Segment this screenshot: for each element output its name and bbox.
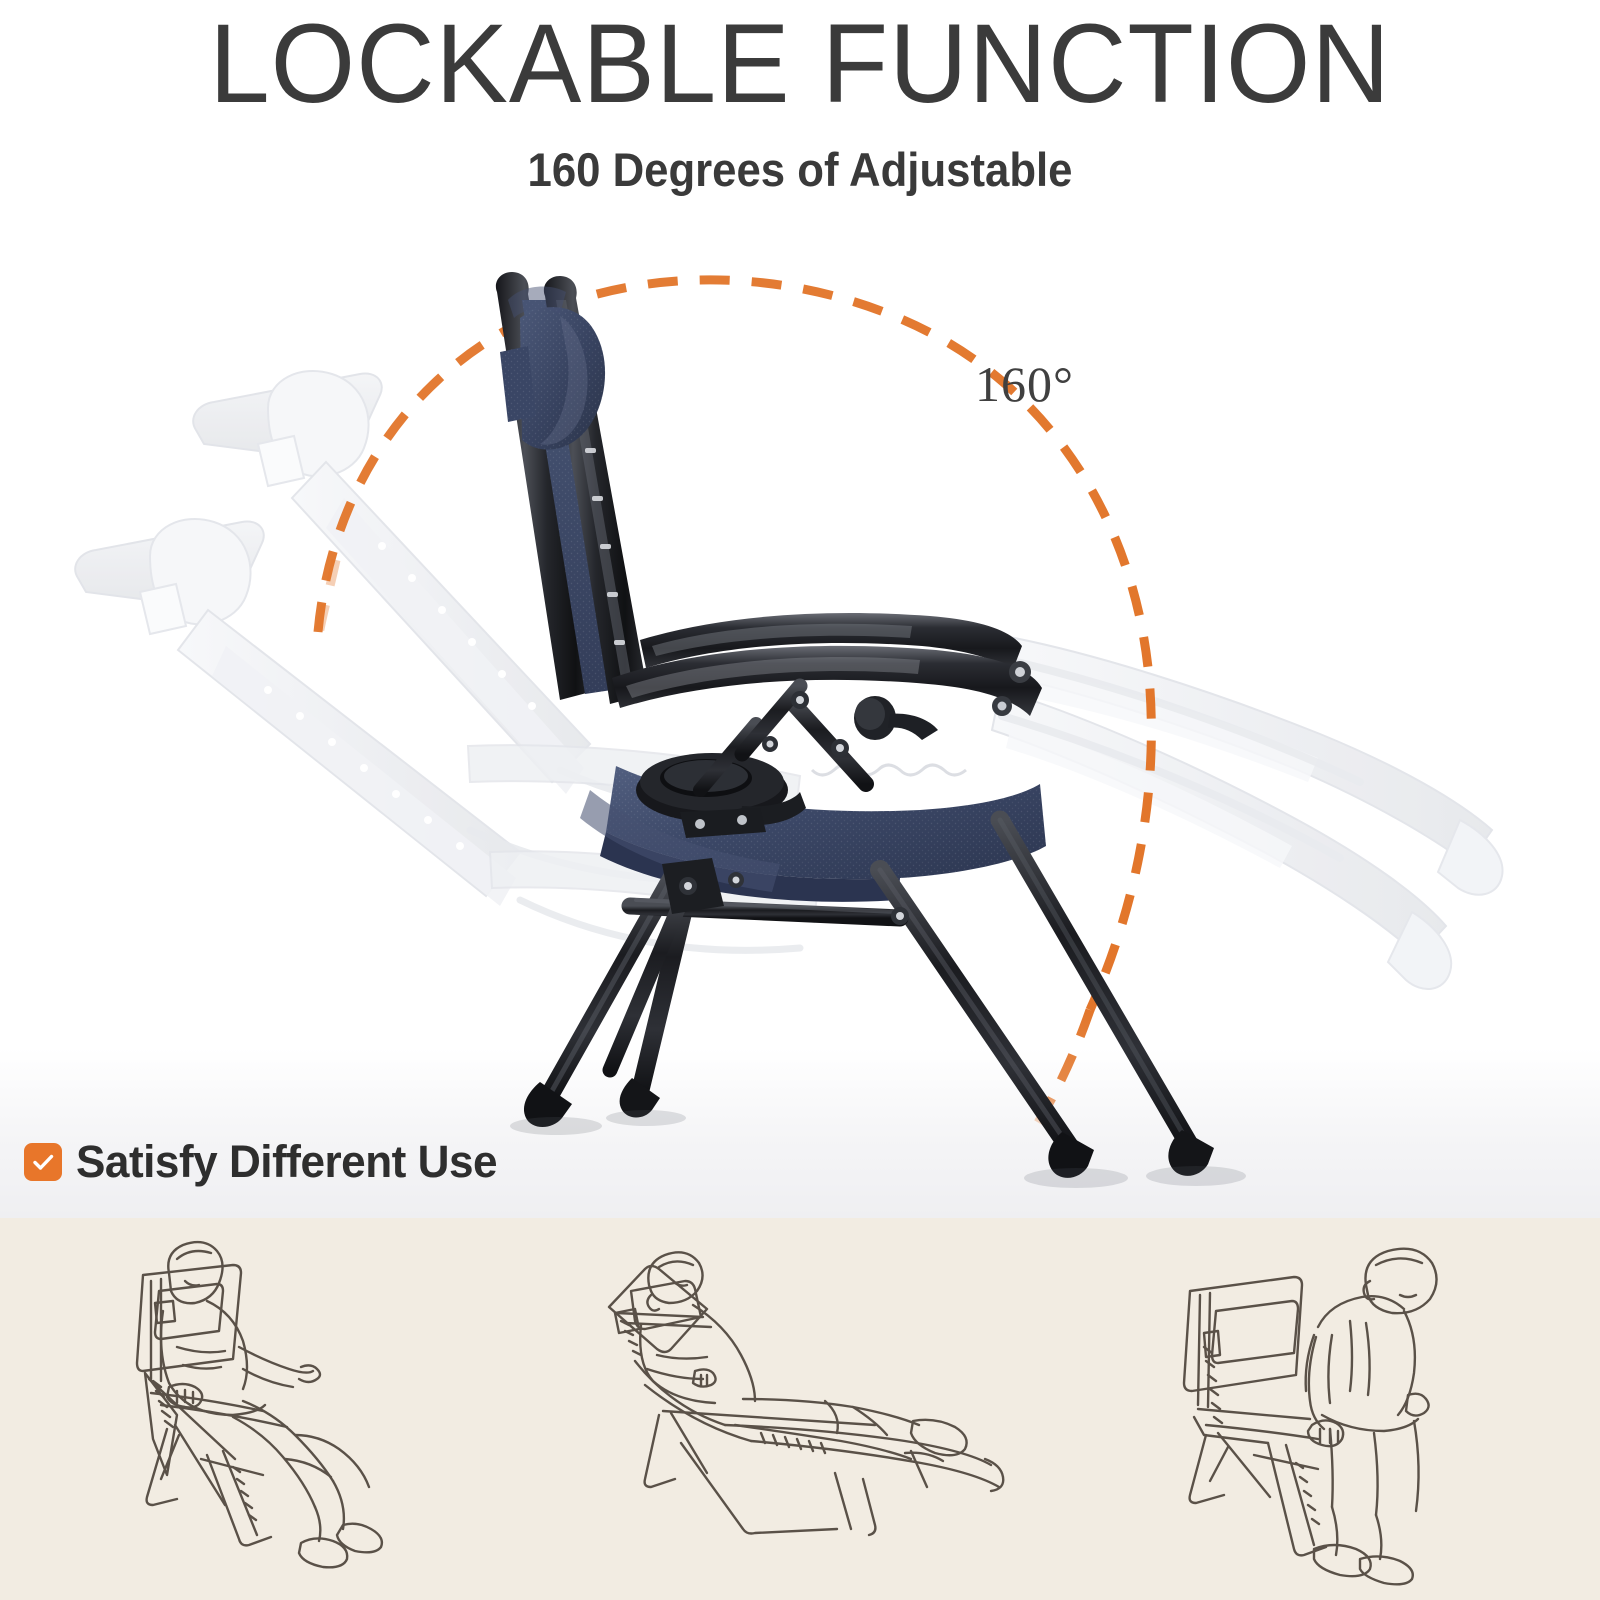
feature-callout: Satisfy Different Use bbox=[24, 1136, 506, 1188]
product-photo-stage bbox=[0, 218, 1600, 1218]
page-title: LOCKABLE FUNCTION bbox=[24, 8, 1576, 120]
use-case-panel bbox=[0, 1218, 1600, 1600]
use-case-seated-upright-relax bbox=[0, 1218, 533, 1600]
use-case-fully-reclined-lying bbox=[533, 1218, 1066, 1600]
use-case-standing-up-from-chair bbox=[1067, 1218, 1600, 1600]
feature-label: Satisfy Different Use bbox=[76, 1136, 497, 1188]
angle-label: 160° bbox=[975, 355, 1074, 413]
page-subtitle: 160 Degrees of Adjustable bbox=[56, 146, 1544, 193]
floor-shadow bbox=[0, 1048, 1600, 1218]
check-icon bbox=[24, 1143, 62, 1181]
infographic-page: LOCKABLE FUNCTION 160 Degrees of Adjusta… bbox=[0, 0, 1600, 1600]
